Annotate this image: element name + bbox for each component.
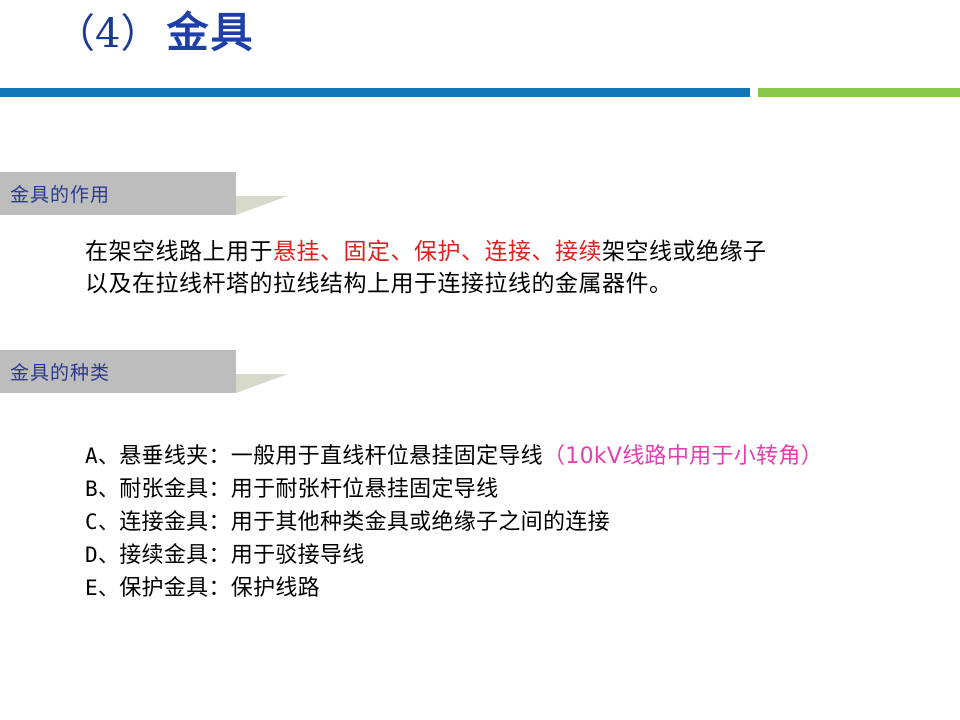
list-item-desc: 保护线路 (231, 576, 320, 601)
list-item-term: 接续金具： (119, 543, 231, 568)
list-item-desc: 用于驳接导线 (231, 543, 365, 568)
list-item-term: 耐张金具： (119, 477, 231, 502)
list-item-desc: 一般用于直线杆位悬挂固定导线 (231, 444, 543, 469)
section-header-purpose-label: 金具的作用 (0, 180, 110, 207)
list-item-desc: 用于其他种类金具或绝缘子之间的连接 (231, 510, 610, 535)
list-item-lead: D、 (85, 543, 119, 567)
section-header-types-label: 金具的种类 (0, 358, 110, 385)
divider-bar-blue (0, 88, 750, 97)
list-item-term: 连接金具： (119, 510, 231, 535)
section-header-purpose-body: 金具的作用 (0, 172, 236, 215)
ribbon-tail-icon (236, 196, 288, 215)
list-item: C、连接金具：用于其他种类金具或绝缘子之间的连接 (85, 506, 955, 539)
list-item: E、保护金具：保护线路 (85, 572, 955, 605)
page-title: （4） 金具 (55, 12, 254, 74)
section-purpose-paragraph: 在架空线路上用于悬挂、固定、保护、连接、接续架空线或绝缘子以及在拉线杆塔的拉线结… (85, 236, 775, 300)
list-item-term: 保护金具： (119, 576, 231, 601)
list-item-lead: C、 (85, 510, 119, 534)
list-item-term: 悬垂线夹： (119, 444, 231, 469)
divider-bar-green (758, 88, 960, 97)
page-title-number: （4） (55, 14, 160, 54)
ribbon-tail-icon (236, 374, 288, 393)
list-item: D、接续金具：用于驳接导线 (85, 539, 955, 572)
list-item-lead: E、 (85, 576, 119, 600)
paragraph-highlight: 悬挂、固定、保护、连接、接续 (273, 239, 602, 265)
list-item: A、悬垂线夹：一般用于直线杆位悬挂固定导线（10kV线路中用于小转角） (85, 440, 955, 473)
list-item-desc: 用于耐张杆位悬挂固定导线 (231, 477, 499, 502)
paragraph-prefix: 在架空线路上用于 (85, 239, 273, 265)
list-item-lead: A、 (85, 444, 119, 468)
list-item-lead: B、 (85, 477, 119, 501)
section-header-types-body: 金具的种类 (0, 350, 236, 393)
fitting-types-list: A、悬垂线夹：一般用于直线杆位悬挂固定导线（10kV线路中用于小转角） B、耐张… (85, 440, 955, 605)
page-title-text: 金具 (166, 12, 254, 54)
list-item: B、耐张金具：用于耐张杆位悬挂固定导线 (85, 473, 955, 506)
list-item-note: （10kV线路中用于小转角） (543, 444, 823, 469)
slide-canvas: （4） 金具 金具的作用 在架空线路上用于悬挂、固定、保护、连接、接续架空线或绝… (0, 0, 960, 720)
